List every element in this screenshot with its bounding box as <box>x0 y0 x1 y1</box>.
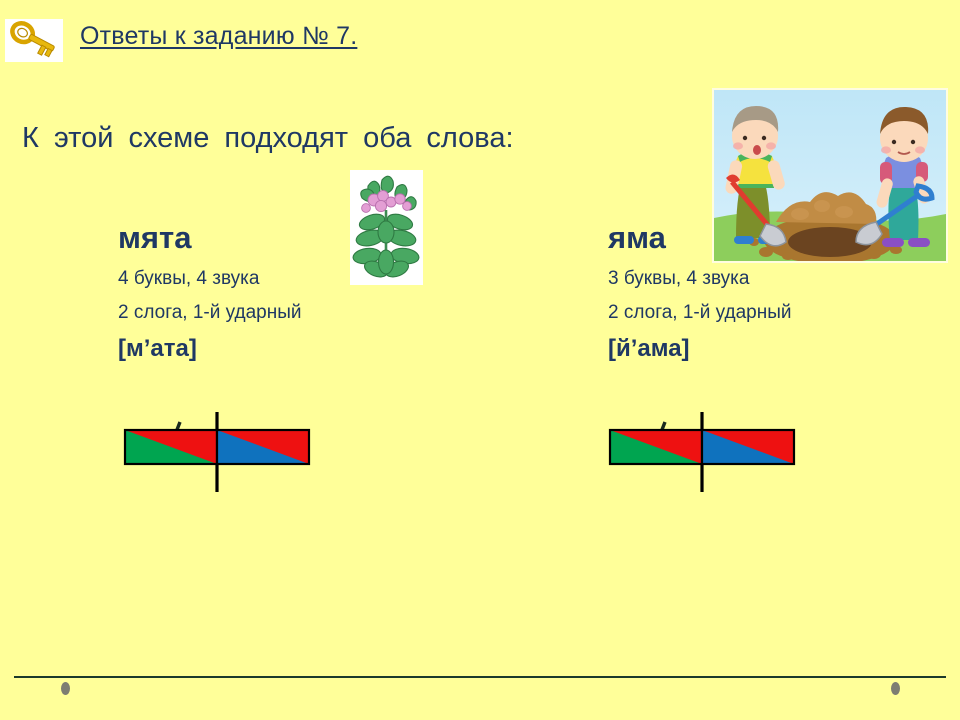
scheme-box-1-right <box>610 430 702 464</box>
footer-dot-left <box>61 682 70 695</box>
footer-divider <box>14 676 946 678</box>
word-letters-sounds-left: 4 буквы, 4 звука <box>118 269 302 288</box>
word-syllables-stress-right: 2 слога, 1-й ударный <box>608 303 792 322</box>
scheme-box-2-right <box>702 430 794 464</box>
word-title-right: яма <box>608 222 792 253</box>
scheme-box-1-left <box>125 430 217 464</box>
mint-plant-illustration <box>350 170 423 285</box>
page-title: Ответы к заданию № 7. <box>80 22 357 51</box>
word-block-left: мята 4 буквы, 4 звука 2 слога, 1-й ударн… <box>118 222 302 361</box>
scheme-box-2-left <box>217 430 309 464</box>
word-syllables-stress-left: 2 слога, 1-й ударный <box>118 303 302 322</box>
key-icon <box>5 19 63 62</box>
word-title-left: мята <box>118 222 302 253</box>
word-letters-sounds-right: 3 буквы, 4 звука <box>608 269 792 288</box>
footer-dot-right <box>891 682 900 695</box>
main-heading: К этой схеме подходят оба слова: <box>22 122 514 155</box>
sound-scheme-right <box>607 400 807 500</box>
slide-canvas: Ответы к заданию № 7. К этой схеме подхо… <box>0 0 960 720</box>
word-transcription-left: [м’ата] <box>118 337 302 361</box>
word-transcription-right: [й’ама] <box>608 337 792 361</box>
word-block-right: яма 3 буквы, 4 звука 2 слога, 1-й ударны… <box>608 222 792 361</box>
sound-scheme-left <box>120 400 320 500</box>
